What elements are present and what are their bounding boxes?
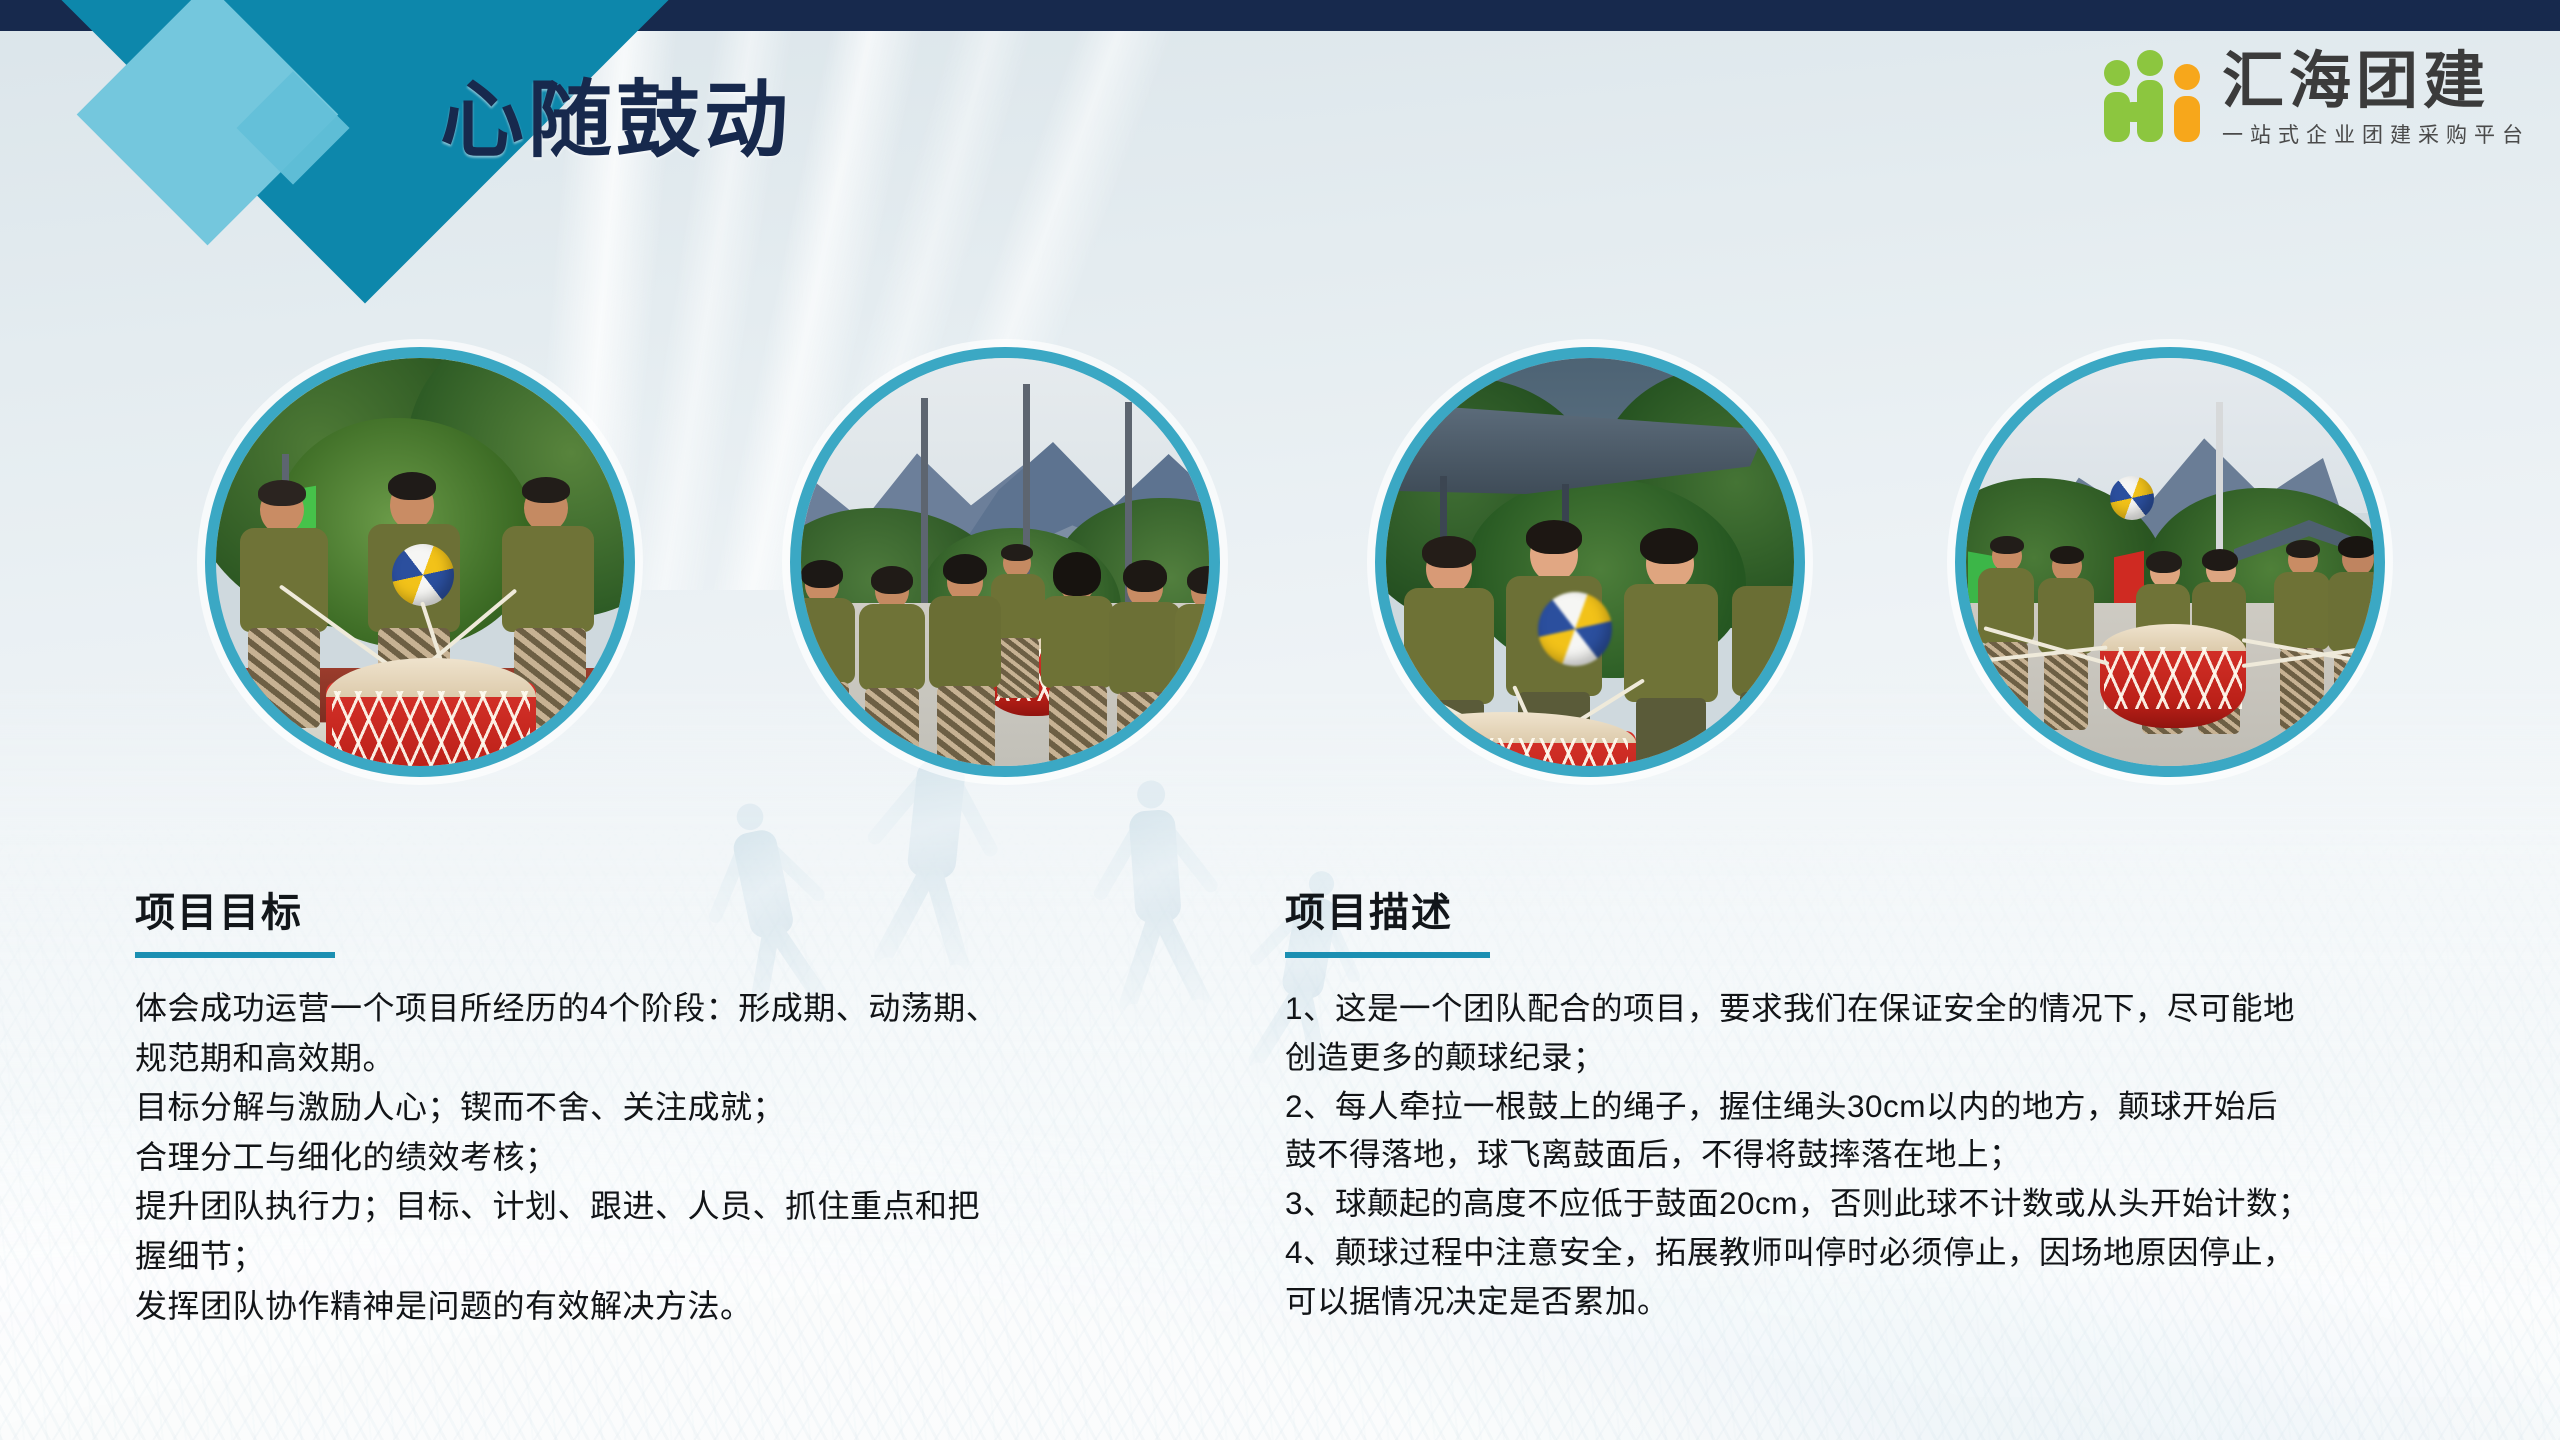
section-heading: 项目目标 (135, 880, 1155, 938)
body-line: 4、颠球过程中注意安全，拓展教师叫停时必须停止，因场地原因停止， (1285, 1228, 2525, 1277)
photo-circle-4[interactable] (1955, 347, 2385, 777)
photo-circle-2[interactable] (790, 347, 1220, 777)
body-line: 1、这是一个团队配合的项目，要求我们在保证安全的情况下，尽可能地 (1285, 984, 2525, 1033)
section-project-goal: 项目目标 体会成功运营一个项目所经历的4个阶段：形成期、动荡期、 规范期和高效期… (135, 880, 1155, 1331)
logo-wordmark: 汇海团建 (2222, 50, 2530, 113)
body-line: 创造更多的颠球纪录； (1285, 1033, 2525, 1082)
photo-circle-3[interactable] (1375, 347, 1805, 777)
photo-3-person-edge (1732, 566, 1794, 766)
photo-4-person (2036, 550, 2100, 730)
section-project-description: 项目描述 1、这是一个团队配合的项目，要求我们在保证安全的情况下，尽可能地 创造… (1285, 880, 2525, 1326)
logo-tagline: 一站式企业团建采购平台 (2222, 119, 2530, 149)
body-line: 发挥团队协作精神是问题的有效解决方法。 (135, 1282, 1155, 1332)
section-body: 1、这是一个团队配合的项目，要求我们在保证安全的情况下，尽可能地 创造更多的颠球… (1285, 984, 2525, 1326)
photo-2-person (927, 562, 1007, 766)
photo-row (0, 332, 2560, 792)
photo-3-scene (1386, 358, 1794, 766)
body-line: 规范期和高效期。 (135, 1034, 1155, 1084)
heading-underline (135, 952, 335, 958)
slide-canvas: 心随鼓动 汇海团建 一站式企业团建采购平台 (0, 0, 2560, 1440)
body-line: 鼓不得落地，球飞离鼓面后，不得将鼓摔落在地上； (1285, 1130, 2525, 1179)
photo-4-volleyball (2110, 476, 2154, 520)
photo-2-person (1173, 572, 1209, 766)
body-line: 可以据情况决定是否累加。 (1285, 1277, 2525, 1326)
photo-1-person-left (238, 486, 334, 726)
photo-4-person (2326, 542, 2374, 734)
photo-1-scene (216, 358, 624, 766)
photo-3-volleyball (1538, 592, 1612, 666)
photo-4-drum (2100, 624, 2246, 728)
body-line: 体会成功运营一个项目所经历的4个阶段：形成期、动荡期、 (135, 984, 1155, 1034)
photo-4-scene (1966, 358, 2374, 766)
photo-2-scene (801, 358, 1209, 766)
section-heading: 项目描述 (1285, 880, 2525, 938)
page-title: 心随鼓动 (440, 78, 792, 162)
photo-3-person-right (1624, 538, 1724, 766)
body-line: 提升团队执行力；目标、计划、跟进、人员、抓住重点和把 (135, 1182, 1155, 1232)
body-line: 目标分解与激励人心；锲而不舍、关注成就； (135, 1083, 1155, 1133)
hi-logo-icon (2104, 50, 2212, 142)
photo-3-drum (1386, 712, 1636, 766)
photo-circle-1[interactable] (205, 347, 635, 777)
photo-1-drum (326, 658, 536, 766)
body-line: 合理分工与细化的绩效考核； (135, 1133, 1155, 1183)
body-line: 握细节； (135, 1232, 1155, 1282)
photo-1-volleyball (392, 544, 454, 606)
section-body: 体会成功运营一个项目所经历的4个阶段：形成期、动荡期、 规范期和高效期。 目标分… (135, 984, 1155, 1331)
heading-underline (1285, 952, 1490, 958)
photo-2-person (801, 566, 861, 766)
photo-2-person (857, 572, 931, 766)
body-line: 2、每人牵拉一根鼓上的绳子，握住绳头30cm以内的地方，颠球开始后 (1285, 1082, 2525, 1131)
photo-2-person (1039, 562, 1117, 766)
brand-logo: 汇海团建 一站式企业团建采购平台 (2104, 50, 2530, 149)
body-line: 3、球颠起的高度不应低于鼓面20cm，否则此球不计数或从头开始计数； (1285, 1179, 2525, 1228)
